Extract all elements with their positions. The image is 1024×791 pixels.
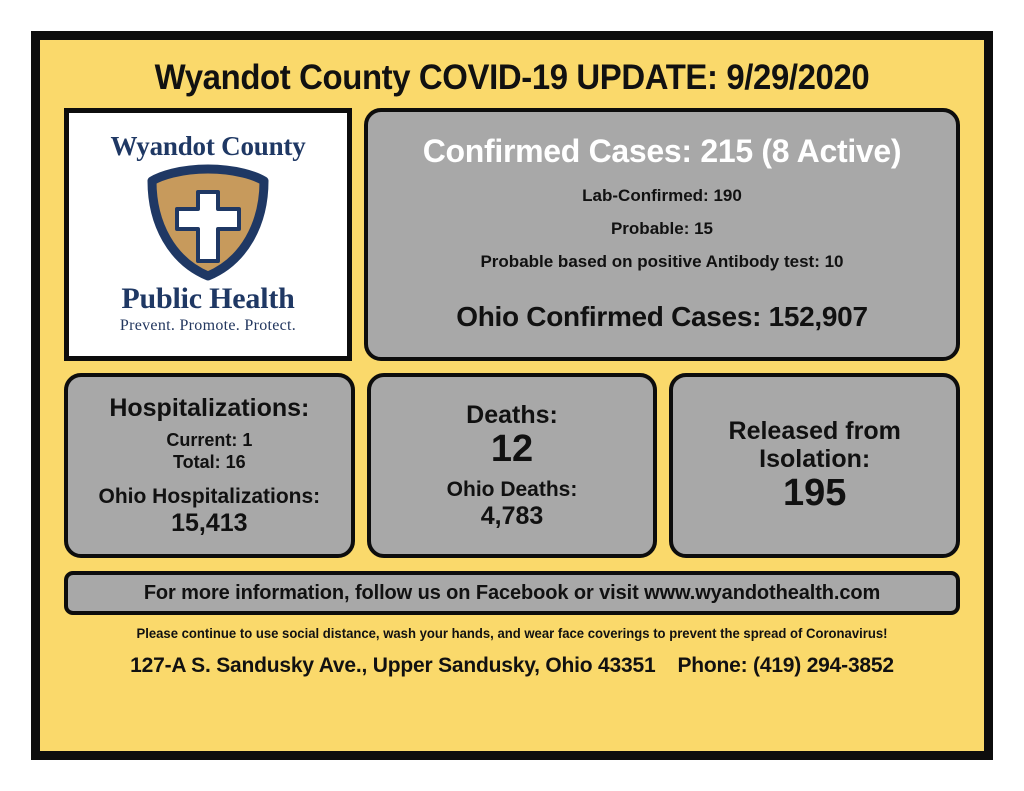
page-title: Wyandot County COVID-19 UPDATE: 9/29/202… [91,58,933,98]
logo-tagline: Prevent. Promote. Protect. [120,317,296,335]
agency-logo: Wyandot County Public Health Prevent. Pr… [64,108,352,361]
probable-stat: Probable: 15 [611,219,713,239]
covid-update-poster: Wyandot County COVID-19 UPDATE: 9/29/202… [31,31,993,760]
hospitalizations-panel: Hospitalizations: Current: 1 Total: 16 O… [64,373,355,558]
footer: Please continue to use social distance, … [64,626,960,678]
probable-antibody-stat: Probable based on positive Antibody test… [480,252,843,272]
phone-text: Phone: (419) 294-3852 [677,654,893,677]
released-title-line1: Released from [729,417,901,445]
ohio-hospitalizations-label: Ohio Hospitalizations: [99,485,321,509]
ohio-hospitalizations-value: 15,413 [171,509,247,538]
logo-org-top: Wyandot County [111,132,306,160]
logo-org-bottom: Public Health [121,284,294,314]
safety-note: Please continue to use social distance, … [77,626,946,641]
released-title-line2: Isolation: [759,445,870,473]
contact-line: 127-A S. Sandusky Ave., Upper Sandusky, … [64,654,960,678]
ohio-deaths-value: 4,783 [481,502,544,531]
ohio-confirmed-cases-stat: Ohio Confirmed Cases: 152,907 [456,301,867,333]
hospitalizations-total: Total: 16 [173,451,246,474]
poster-header: Wyandot County COVID-19 UPDATE: 9/29/202… [64,50,960,108]
more-information-bar[interactable]: For more information, follow us on Faceb… [64,571,960,615]
top-section: Wyandot County Public Health Prevent. Pr… [64,108,960,361]
hospitalizations-title: Hospitalizations: [109,394,309,422]
hospitalizations-current: Current: 1 [166,429,252,452]
mid-section: Hospitalizations: Current: 1 Total: 16 O… [64,373,960,558]
deaths-value: 12 [491,429,533,471]
ohio-deaths-label: Ohio Deaths: [447,478,578,502]
zip-code: 43351 [598,654,655,677]
more-information-text: For more information, follow us on Faceb… [144,582,880,605]
deaths-panel: Deaths: 12 Ohio Deaths: 4,783 [367,373,658,558]
released-from-isolation-panel: Released from Isolation: 195 [669,373,960,558]
confirmed-cases-headline: Confirmed Cases: 215 (8 Active) [423,133,902,170]
confirmed-cases-panel: Confirmed Cases: 215 (8 Active) Lab-Conf… [364,108,960,361]
released-value: 195 [783,473,846,515]
deaths-title: Deaths: [466,401,558,429]
shield-with-cross-icon [144,162,272,282]
address-text: 127-A S. Sandusky Ave., Upper Sandusky, … [130,654,598,677]
lab-confirmed-stat: Lab-Confirmed: 190 [582,186,742,206]
